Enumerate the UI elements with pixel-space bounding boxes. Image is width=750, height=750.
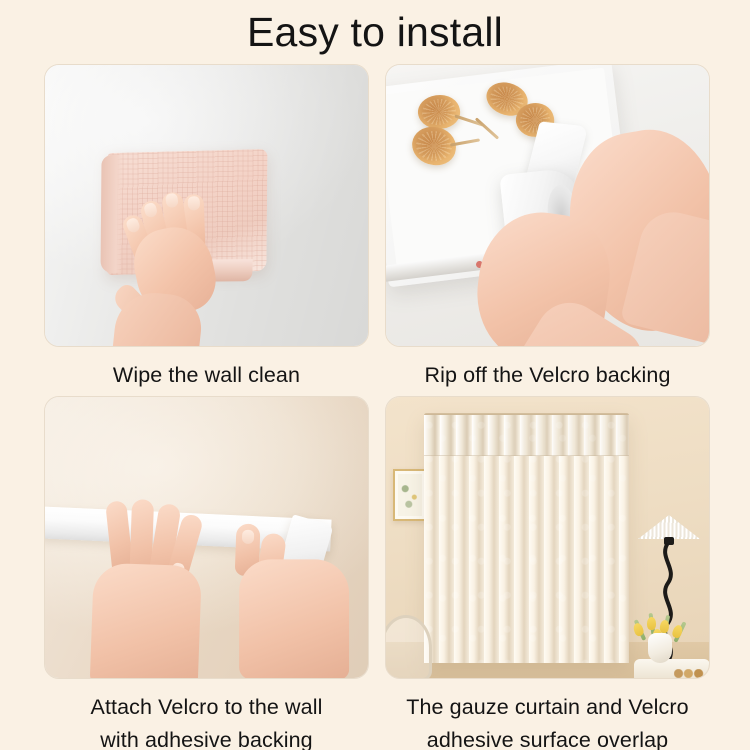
chair (385, 615, 432, 679)
photo-gauze-curtain-installed (385, 396, 710, 679)
left-hand-pressing (84, 499, 222, 679)
step-card-1: Wipe the wall clean (44, 64, 369, 392)
caption-line: adhesive surface overlap (385, 724, 710, 750)
palm-and-wrist (239, 559, 349, 679)
caption-line: Rip off the Velcro backing (385, 359, 710, 392)
step-caption-3: Attach Velcro to the wall with adhesive … (44, 691, 369, 750)
fingernail (125, 217, 141, 234)
decorative-nuts (674, 669, 704, 678)
fingernail (242, 530, 254, 544)
right-hand-holding-end (225, 509, 369, 679)
gauze-curtain (424, 415, 629, 663)
tulip-bloom (647, 617, 656, 630)
fingernail (165, 193, 179, 209)
caption-line: Attach Velcro to the wall (44, 691, 369, 724)
step-card-3: Attach Velcro to the wall with adhesive … (44, 396, 369, 750)
step-caption-4: The gauze curtain and Velcro adhesive su… (385, 691, 710, 750)
photo-wipe-wall (44, 64, 369, 347)
fingernail (188, 196, 200, 210)
white-vase (648, 633, 672, 663)
photo-rip-velcro-backing (385, 64, 710, 347)
step-card-2: Rip off the Velcro backing (385, 64, 710, 392)
left-hand-holding-roll (468, 205, 618, 347)
caption-line: with adhesive backing (44, 724, 369, 750)
step-caption-2: Rip off the Velcro backing (385, 359, 710, 392)
caption-line: Wipe the wall clean (44, 359, 369, 392)
step-card-4: The gauze curtain and Velcro adhesive su… (385, 396, 710, 750)
steps-grid: Wipe the wall clean (0, 64, 750, 750)
photo-attach-velcro-wall (44, 396, 369, 679)
palm-and-wrist (90, 563, 202, 679)
framed-botanical-print (393, 469, 427, 521)
step-caption-1: Wipe the wall clean (44, 359, 369, 392)
caption-line: The gauze curtain and Velcro (385, 691, 710, 724)
page-title: Easy to install (0, 8, 750, 56)
fingernail (143, 202, 158, 218)
